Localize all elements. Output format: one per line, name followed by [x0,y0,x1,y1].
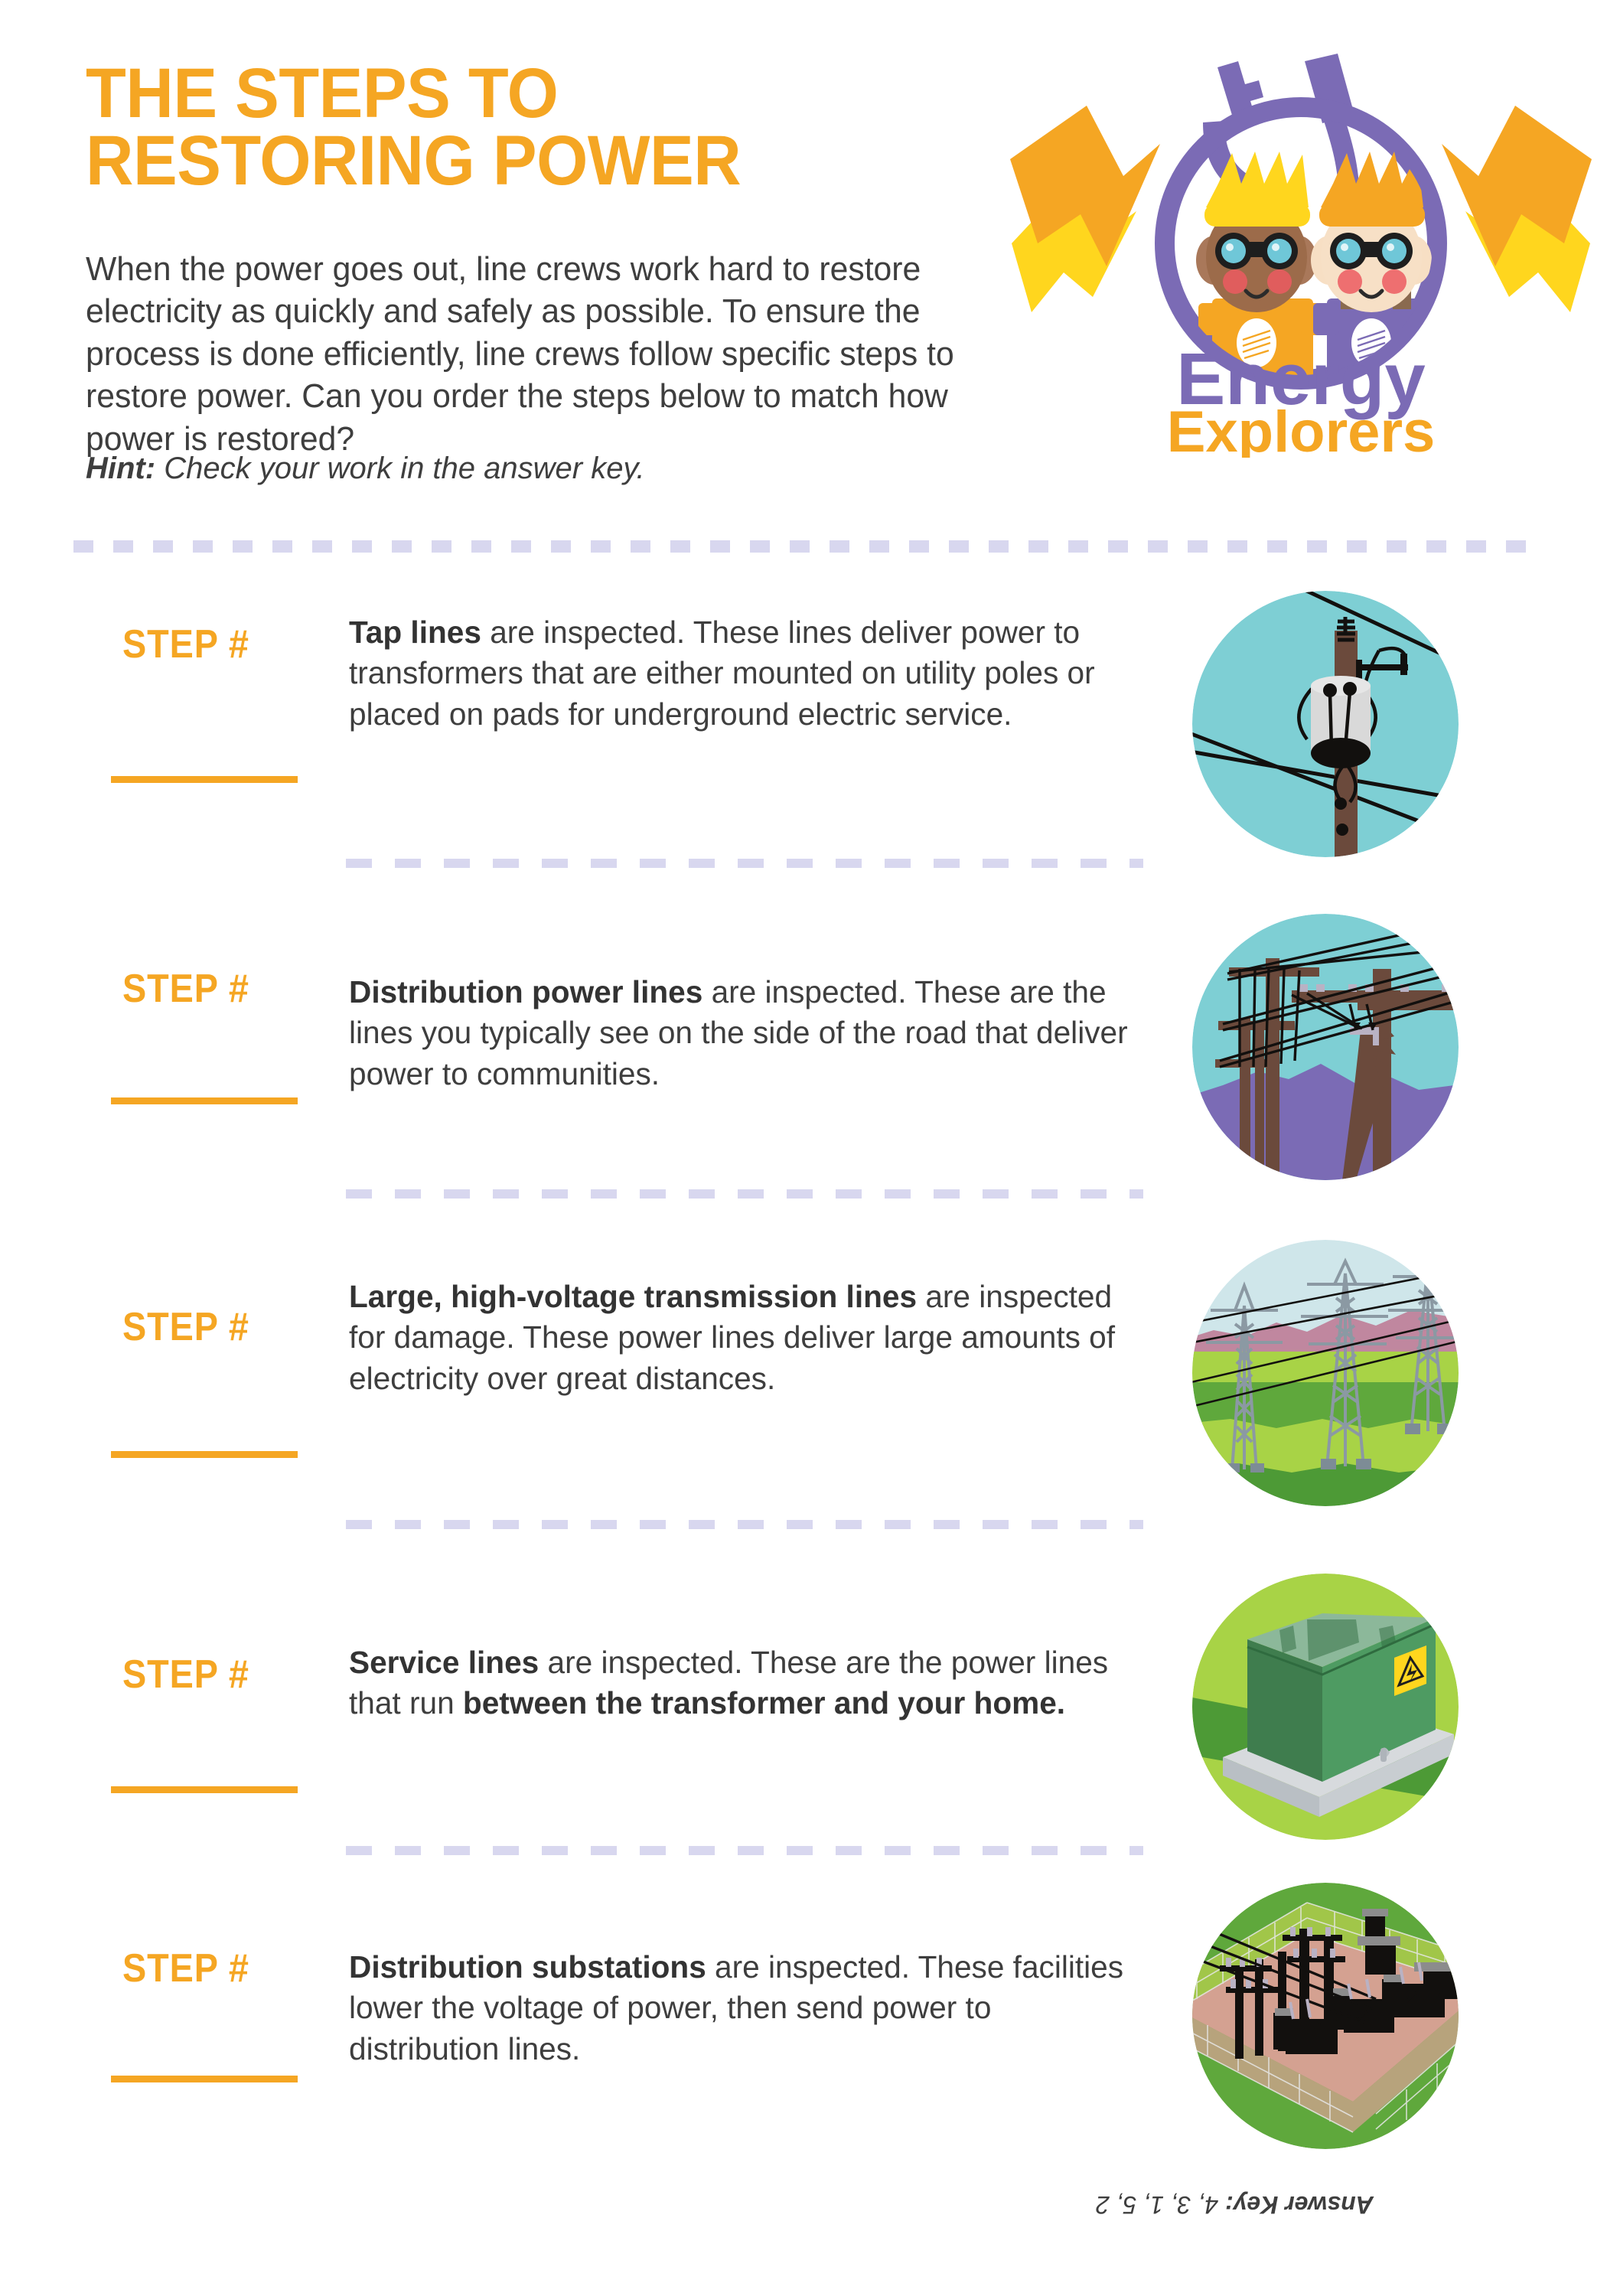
step-label: STEP # [122,1304,302,1350]
page-title: THE STEPS TO RESTORING POWER [86,60,934,195]
step-label: STEP # [122,621,302,667]
answer-key-value: 4, 3, 1, 5, 2 [1096,2191,1225,2219]
step-divider [346,1520,1143,1529]
step-bold-tail: between the transformer and your home. [463,1685,1065,1720]
step-divider [346,1846,1143,1855]
worksheet-page: THE STEPS TO RESTORING POWER When the po… [0,0,1607,2296]
step-answer-blank[interactable] [111,1097,298,1104]
step-divider [346,1189,1143,1199]
step-illustration [1192,591,1459,857]
step-description: Distribution substations are inspected. … [349,1947,1137,2069]
step-label: STEP # [122,966,302,1012]
step-row: STEP # Distribution substations are insp… [0,1926,1607,2216]
step-answer-blank[interactable] [111,1451,298,1458]
lightning-bolt-icon-left [1010,106,1160,312]
step-description: Large, high-voltage transmission lines a… [349,1277,1137,1399]
hint-text: Check your work in the answer key. [164,452,644,485]
step-label: STEP # [122,1652,302,1698]
page-header: THE STEPS TO RESTORING POWER When the po… [0,0,1607,536]
step-illustration [1192,1240,1459,1506]
step-label: STEP # [122,1945,302,1991]
step-bold-lead: Distribution power lines [349,974,702,1009]
page-title-line-2: RESTORING POWER [86,127,934,194]
logo-word-explorers: Explorers [1167,400,1436,458]
step-illustration [1192,1883,1459,2149]
step-answer-blank[interactable] [111,1786,298,1793]
answer-key-label: Answer Key: [1225,2191,1374,2219]
energy-explorers-logo: Energy Explorers [995,14,1607,458]
step-bold-lead: Large, high-voltage transmission lines [349,1279,917,1314]
step-answer-blank[interactable] [111,776,298,783]
step-description: Service lines are inspected. These are t… [349,1642,1137,1724]
step-description: Distribution power lines are inspected. … [349,972,1137,1094]
hint-label: Hint: [86,452,155,485]
step-illustration [1192,1574,1459,1840]
intro-paragraph: When the power goes out, line crews work… [86,248,1021,460]
answer-key: Answer Key: 4, 3, 1, 5, 2 [1096,2190,1463,2219]
step-illustration [1192,914,1459,1180]
step-description: Tap lines are inspected. These lines del… [349,612,1137,735]
page-title-line-1: THE STEPS TO [86,60,934,127]
hint-line: Hint: Check your work in the answer key. [86,450,645,487]
step-bold-lead: Service lines [349,1645,539,1680]
step-bold-lead: Distribution substations [349,1949,706,1985]
lightning-bolt-icon-right [1442,106,1592,312]
header-divider [73,540,1543,553]
step-answer-blank[interactable] [111,2076,298,2082]
step-bold-lead: Tap lines [349,615,481,650]
step-divider [346,859,1143,868]
